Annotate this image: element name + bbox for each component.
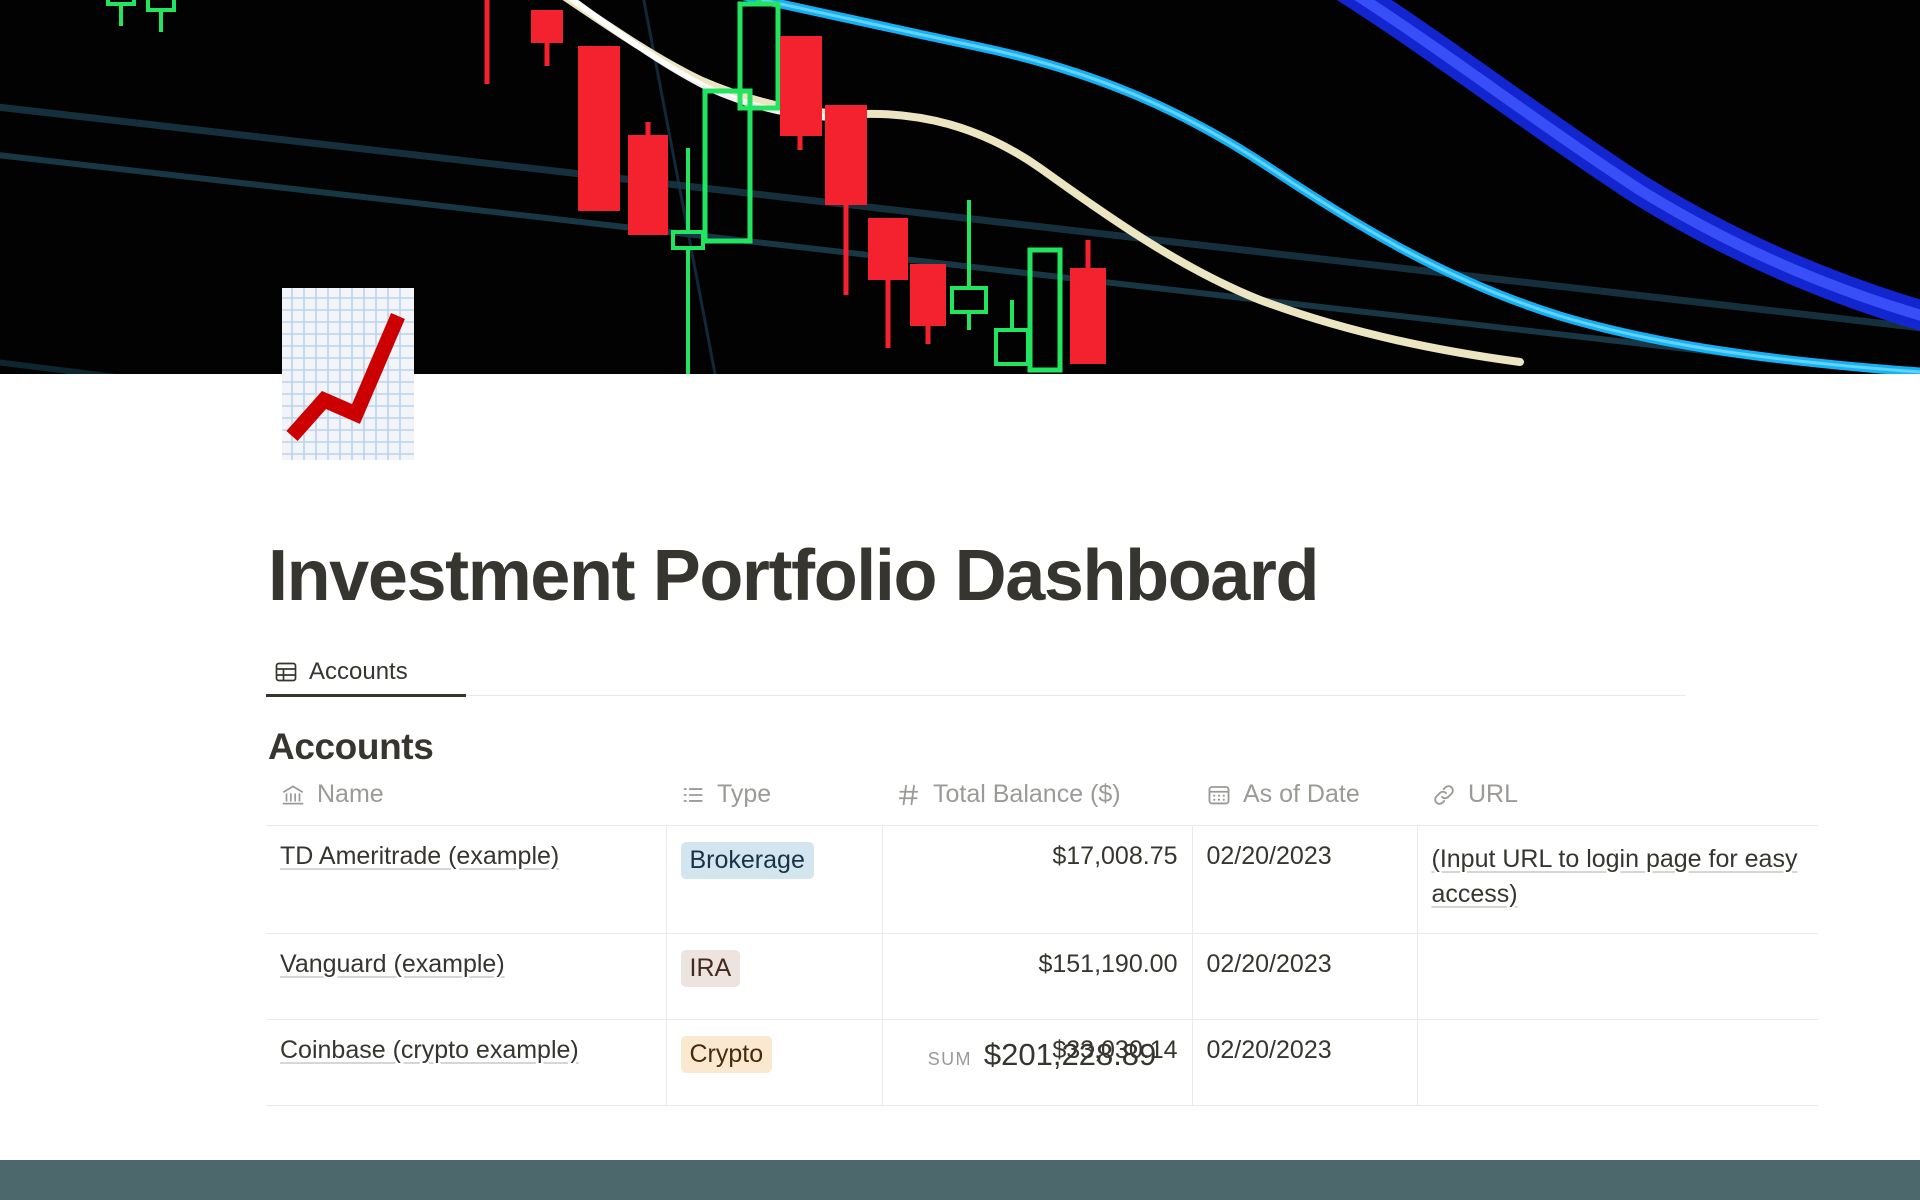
tab-active-underline — [266, 694, 466, 697]
sum-value: $201,228.89 — [984, 1037, 1156, 1073]
cell-balance[interactable]: $17,008.75 — [882, 826, 1192, 934]
cell-date[interactable]: 02/20/2023 — [1192, 934, 1417, 1020]
cell-type[interactable]: Brokerage — [666, 826, 882, 934]
cell-url[interactable]: (Input URL to login page for easy access… — [1417, 826, 1818, 934]
date-value: 02/20/2023 — [1207, 950, 1332, 978]
column-header-label: Name — [317, 780, 384, 809]
tab-accounts[interactable]: Accounts — [266, 650, 416, 694]
link-icon — [1431, 782, 1457, 808]
chart-increasing-icon — [282, 288, 414, 460]
calendar-icon — [1206, 782, 1232, 808]
page-root: Investment Portfolio Dashboard Accounts … — [0, 0, 1920, 1200]
tab-label: Accounts — [309, 658, 408, 686]
sum-label: SUM — [928, 1049, 972, 1070]
column-header-label: Type — [717, 780, 771, 809]
cell-name[interactable]: TD Ameritrade (example) — [266, 826, 666, 934]
table-row[interactable]: TD Ameritrade (example) Brokerage $17,00… — [266, 826, 1818, 934]
tab-bar-rule — [266, 695, 1686, 696]
table-row[interactable]: Vanguard (example) IRA $151,190.00 02/20… — [266, 934, 1818, 1020]
tab-bar: Accounts — [266, 650, 1686, 698]
column-header-name[interactable]: Name — [266, 774, 666, 826]
section-title: Accounts — [268, 726, 433, 768]
account-name-link[interactable]: TD Ameritrade (example) — [280, 842, 559, 870]
balance-value: $151,190.00 — [897, 950, 1178, 979]
balance-value: $17,008.75 — [897, 842, 1178, 871]
table-grid-icon — [274, 660, 298, 684]
page-icon[interactable] — [282, 288, 414, 460]
table-sum-footer[interactable]: SUM $201,228.89 — [266, 1037, 1818, 1073]
column-header-date[interactable]: As of Date — [1192, 774, 1417, 826]
list-icon — [680, 782, 706, 808]
type-tag: IRA — [681, 950, 741, 987]
page-title: Investment Portfolio Dashboard — [268, 540, 1318, 612]
cell-type[interactable]: IRA — [666, 934, 882, 1020]
column-header-type[interactable]: Type — [666, 774, 882, 826]
footer-bar — [0, 1160, 1920, 1200]
cell-balance[interactable]: $151,190.00 — [882, 934, 1192, 1020]
cell-name[interactable]: Vanguard (example) — [266, 934, 666, 1020]
date-value: 02/20/2023 — [1207, 842, 1332, 870]
column-header-label: URL — [1468, 780, 1518, 809]
cell-date[interactable]: 02/20/2023 — [1192, 826, 1417, 934]
bank-icon — [280, 782, 306, 808]
column-header-label: As of Date — [1243, 780, 1360, 809]
column-header-url[interactable]: URL — [1417, 774, 1818, 826]
type-tag: Brokerage — [681, 842, 814, 879]
column-header-label: Total Balance ($) — [933, 780, 1121, 809]
table-header-row: Name — [266, 774, 1818, 826]
column-header-balance[interactable]: Total Balance ($) — [882, 774, 1192, 826]
account-name-link[interactable]: Vanguard (example) — [280, 950, 505, 978]
url-value[interactable]: (Input URL to login page for easy access… — [1432, 845, 1798, 908]
hash-icon — [896, 782, 922, 808]
cell-url[interactable] — [1417, 934, 1818, 1020]
